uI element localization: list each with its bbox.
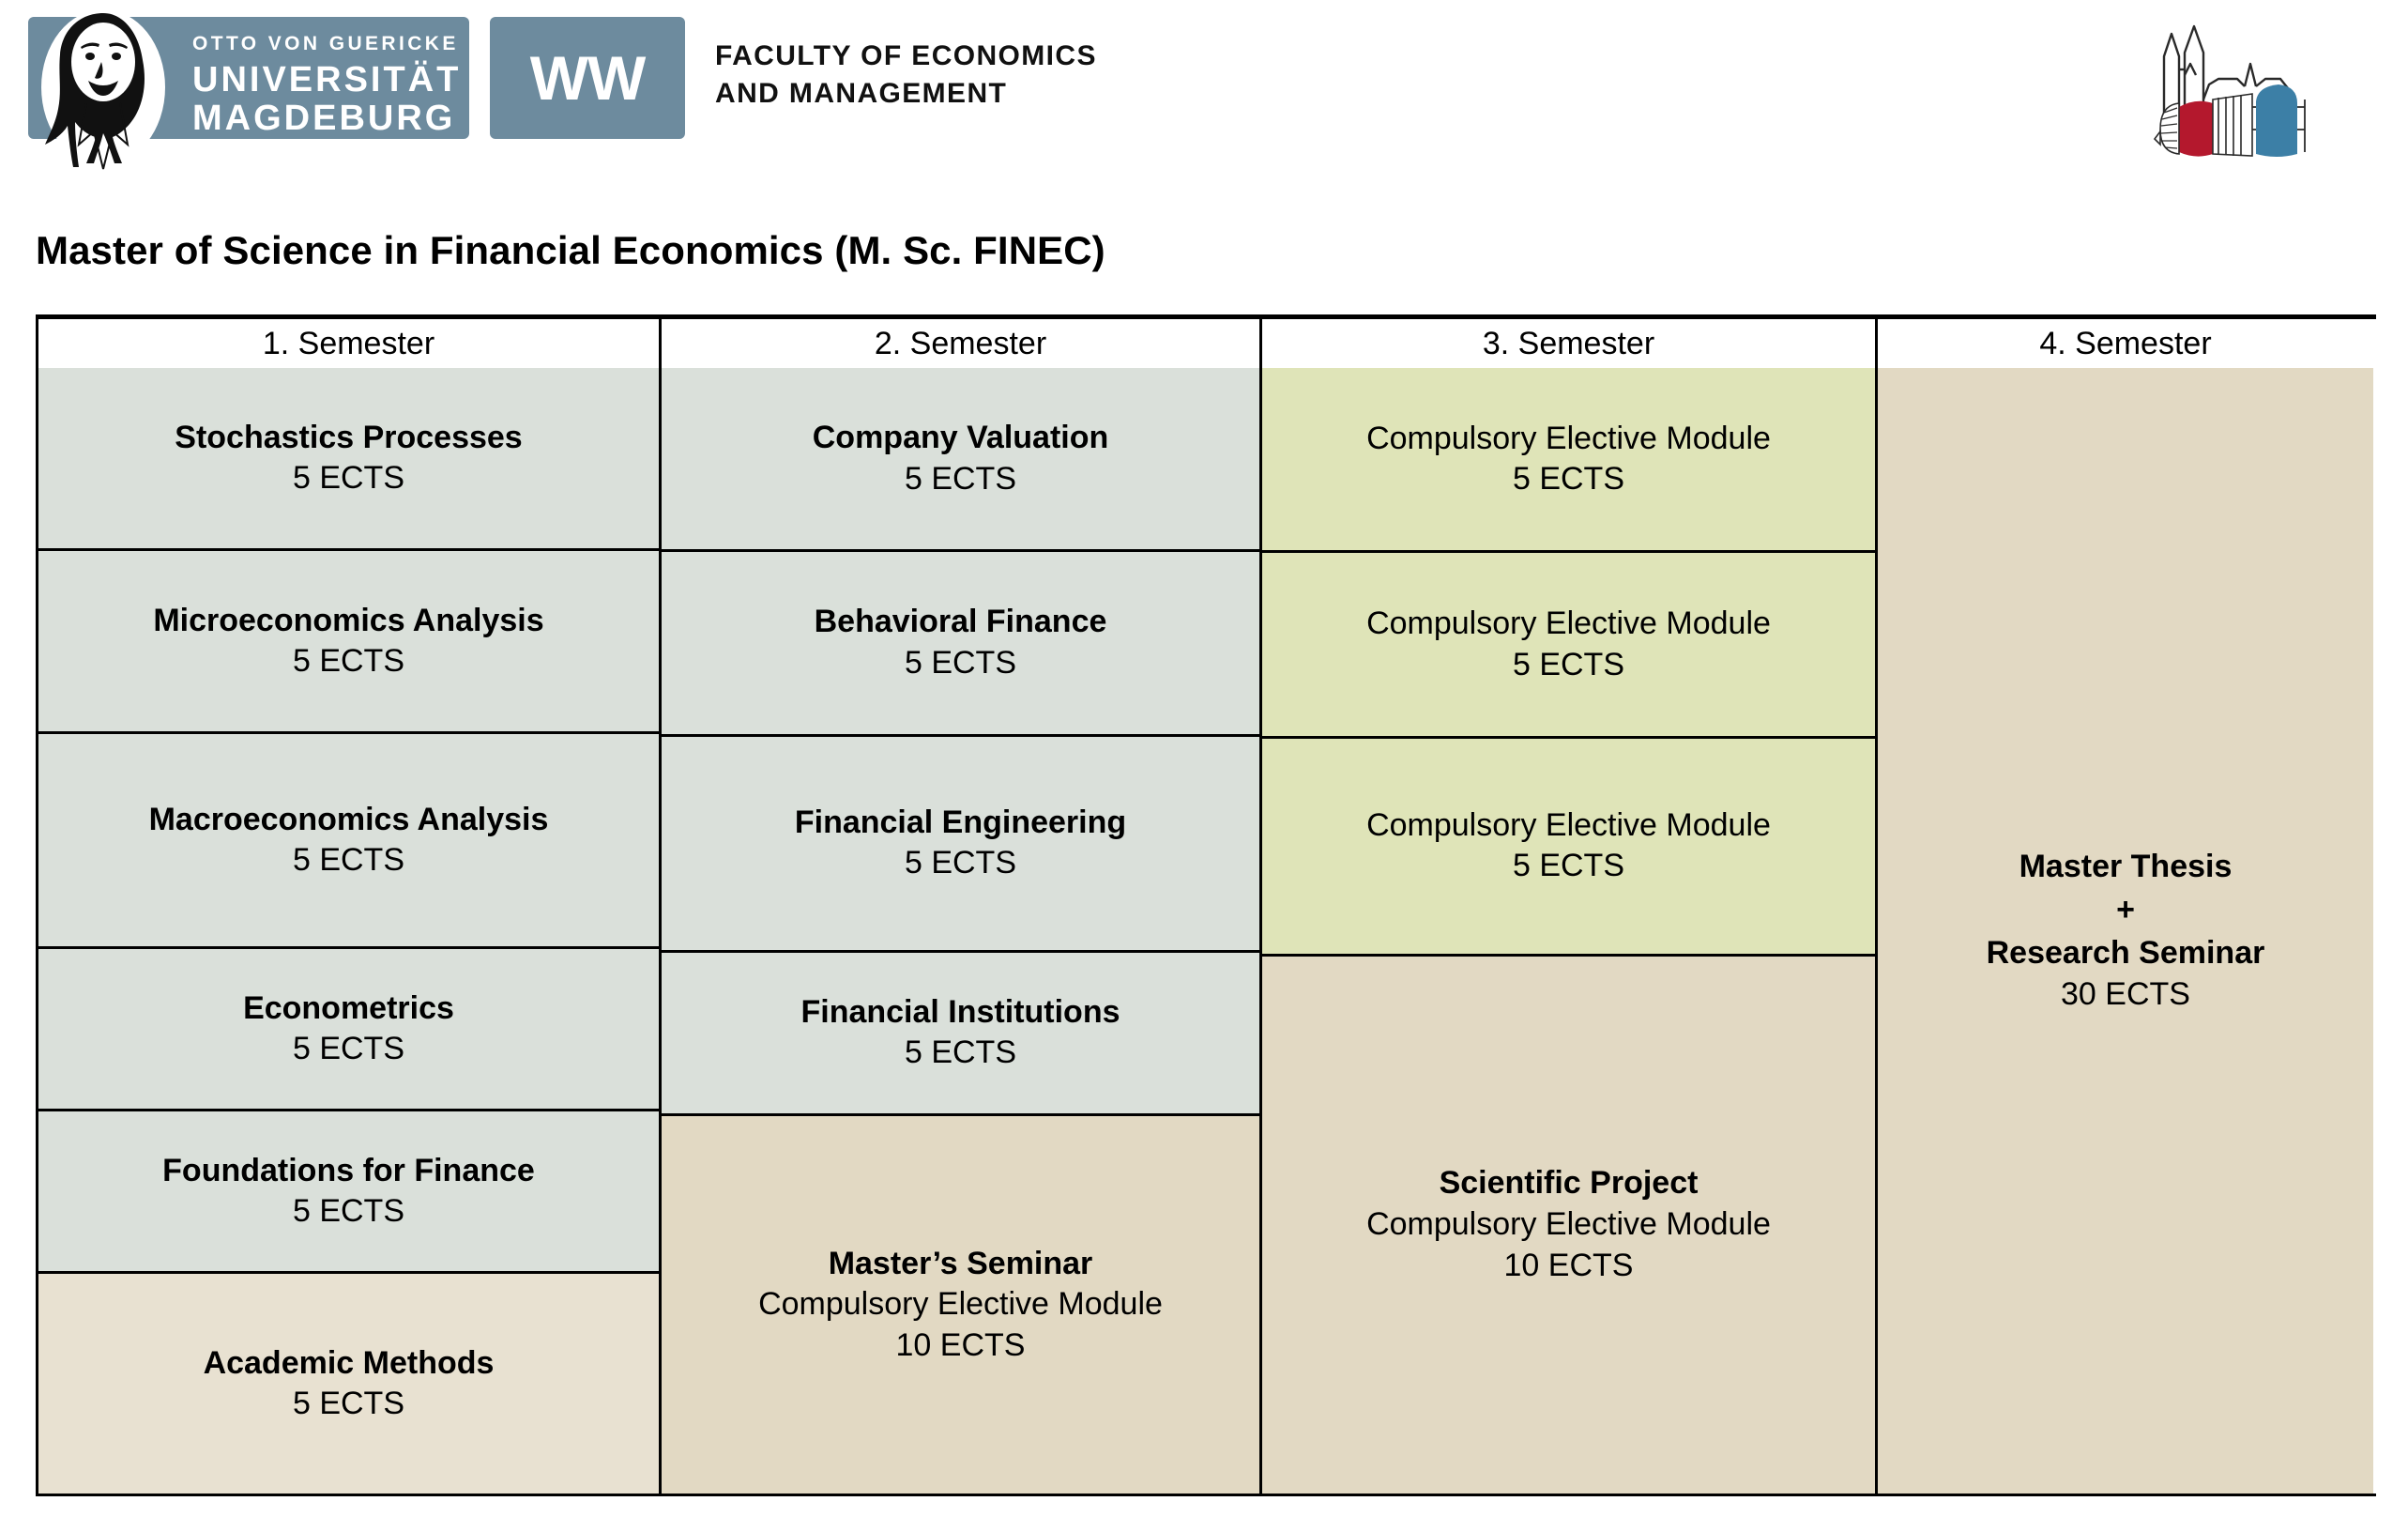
ovgu-line-universitaet: UNIVERSITÄT	[192, 61, 461, 100]
module-cell[interactable]: Scientific Project Compulsory Elective M…	[1262, 957, 1875, 1494]
module-ects: 5 ECTS	[293, 1191, 404, 1233]
module-cell[interactable]: Master Thesis + Research Seminar 30 ECTS	[1878, 368, 2373, 1494]
ovgu-logo: OTTO VON GUERICKE UNIVERSITÄT MAGDEBURG	[28, 17, 469, 139]
module-ects: 10 ECTS	[1504, 1246, 1634, 1287]
module-subtitle: Compulsory Elective Module	[1366, 1204, 1771, 1246]
module-name: Stochastics Processes	[175, 418, 522, 459]
module-cell[interactable]: Company Valuation 5 ECTS	[662, 368, 1259, 552]
module-subtitle: Compulsory Elective Module	[758, 1284, 1163, 1325]
curriculum-table: 1. Semester 2. Semester 3. Semester 4. S…	[36, 314, 2376, 1499]
semester-header-3: 3. Semester	[1262, 319, 1878, 368]
module-ects: 5 ECTS	[905, 1033, 1016, 1074]
guericke-portrait-icon	[21, 4, 190, 171]
module-name: Academic Methods	[204, 1343, 495, 1385]
module-ects: 5 ECTS	[1513, 846, 1624, 887]
module-cell[interactable]: Econometrics 5 ECTS	[38, 949, 659, 1111]
module-ects: 5 ECTS	[293, 1029, 404, 1070]
semester-column-4: Master Thesis + Research Seminar 30 ECTS	[1878, 368, 2373, 1494]
module-cell[interactable]: Microeconomics Analysis 5 ECTS	[38, 551, 659, 734]
module-ects: 30 ECTS	[2061, 974, 2190, 1016]
module-ects: 5 ECTS	[905, 643, 1016, 684]
faculty-name-line2: AND MANAGEMENT	[715, 75, 1097, 113]
faculty-name-line1: FACULTY OF ECONOMICS	[715, 38, 1097, 75]
module-cell[interactable]: Master’s Seminar Compulsory Elective Mod…	[662, 1116, 1259, 1494]
page-title: Master of Science in Financial Economics…	[36, 228, 1105, 273]
module-plus-sign: +	[2116, 887, 2135, 933]
module-ects: 5 ECTS	[293, 1384, 404, 1425]
module-name: Compulsory Elective Module	[1366, 604, 1771, 645]
module-ects: 5 ECTS	[1513, 645, 1624, 686]
semester-header-2: 2. Semester	[662, 319, 1262, 368]
module-ects: 10 ECTS	[896, 1325, 1026, 1367]
faculty-abbr-logo: WW	[490, 17, 685, 139]
semester-header-1: 1. Semester	[36, 319, 662, 368]
logo-group: OTTO VON GUERICKE UNIVERSITÄT MAGDEBURG …	[28, 17, 1097, 139]
ovgu-line-otto-von-guericke: OTTO VON GUERICKE	[192, 34, 461, 54]
module-name: Econometrics	[243, 988, 454, 1030]
magdeburg-skyline-emblem-icon	[2147, 13, 2316, 163]
module-name: Company Valuation	[813, 418, 1109, 459]
module-name: Master’s Seminar	[829, 1244, 1093, 1285]
module-name: Compulsory Elective Module	[1366, 419, 1771, 460]
module-ects: 5 ECTS	[293, 840, 404, 881]
ovgu-wordmark: OTTO VON GUERICKE UNIVERSITÄT MAGDEBURG	[192, 34, 461, 138]
module-name: Microeconomics Analysis	[153, 601, 543, 642]
table-body: Stochastics Processes 5 ECTS Microeconom…	[36, 368, 2376, 1496]
ovgu-line-magdeburg: MAGDEBURG	[192, 100, 461, 138]
module-cell[interactable]: Behavioral Finance 5 ECTS	[662, 552, 1259, 736]
module-cell[interactable]: Compulsory Elective Module 5 ECTS	[1262, 739, 1875, 957]
module-cell[interactable]: Compulsory Elective Module 5 ECTS	[1262, 553, 1875, 738]
table-header-row: 1. Semester 2. Semester 3. Semester 4. S…	[36, 319, 2376, 368]
semester-column-1: Stochastics Processes 5 ECTS Microeconom…	[36, 368, 662, 1494]
module-cell[interactable]: Macroeconomics Analysis 5 ECTS	[38, 734, 659, 949]
module-name: Macroeconomics Analysis	[149, 800, 549, 841]
faculty-name: FACULTY OF ECONOMICS AND MANAGEMENT	[715, 17, 1097, 112]
module-name: Foundations for Finance	[162, 1151, 535, 1192]
module-ects: 5 ECTS	[293, 641, 404, 682]
module-name: Financial Institutions	[800, 992, 1120, 1034]
module-name: Financial Engineering	[795, 803, 1126, 844]
module-name-secondary: Research Seminar	[1987, 933, 2265, 974]
module-ects: 5 ECTS	[1513, 459, 1624, 500]
module-cell[interactable]: Foundations for Finance 5 ECTS	[38, 1111, 659, 1274]
module-name: Scientific Project	[1440, 1163, 1699, 1204]
module-cell[interactable]: Financial Institutions 5 ECTS	[662, 953, 1259, 1116]
semester-column-3: Compulsory Elective Module 5 ECTS Compul…	[1262, 368, 1878, 1494]
module-ects: 5 ECTS	[293, 458, 404, 499]
semester-header-4: 4. Semester	[1878, 319, 2373, 368]
module-cell[interactable]: Academic Methods 5 ECTS	[38, 1274, 659, 1494]
module-cell[interactable]: Stochastics Processes 5 ECTS	[38, 368, 659, 551]
module-ects: 5 ECTS	[905, 843, 1016, 884]
faculty-abbr-label: WW	[490, 17, 685, 139]
module-cell[interactable]: Compulsory Elective Module 5 ECTS	[1262, 368, 1875, 553]
page-header: OTTO VON GUERICKE UNIVERSITÄT MAGDEBURG …	[0, 0, 2408, 188]
semester-column-2: Company Valuation 5 ECTS Behavioral Fina…	[662, 368, 1262, 1494]
module-name: Master Thesis	[2019, 847, 2233, 888]
module-cell[interactable]: Financial Engineering 5 ECTS	[662, 737, 1259, 953]
module-name: Behavioral Finance	[815, 602, 1107, 643]
module-name: Compulsory Elective Module	[1366, 805, 1771, 847]
module-ects: 5 ECTS	[905, 459, 1016, 500]
